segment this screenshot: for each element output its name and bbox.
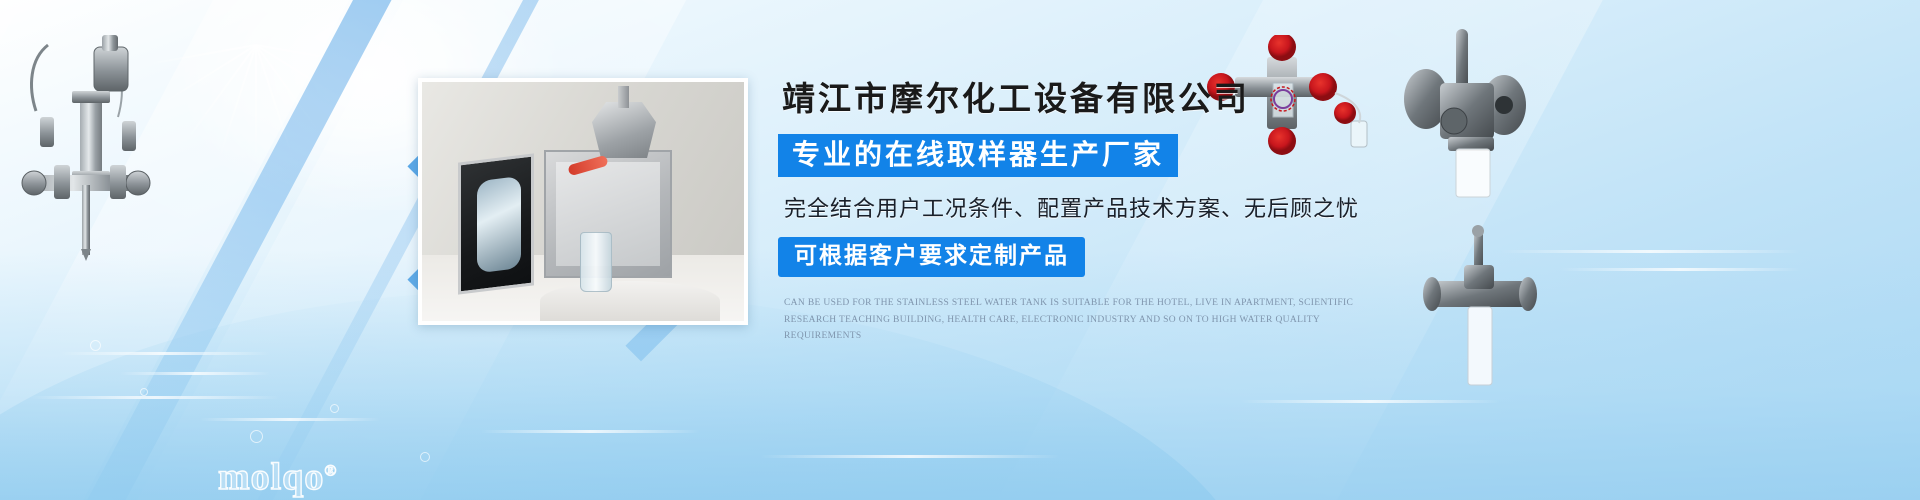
water-streak bbox=[1240, 400, 1500, 403]
sub-headline: 完全结合用户工况条件、配置产品技术方案、无后顾之忧 bbox=[784, 191, 1398, 223]
registered-mark-icon: ® bbox=[324, 462, 337, 479]
water-streak bbox=[760, 455, 1060, 458]
headline-badge: 专业的在线取样器生产厂家 bbox=[778, 134, 1178, 177]
bubble bbox=[330, 404, 339, 413]
bubble bbox=[420, 452, 430, 462]
water-streak bbox=[1500, 250, 1800, 253]
sun-ray-icon bbox=[185, 44, 257, 142]
sun-ray-icon bbox=[255, 45, 257, 165]
water-streak bbox=[480, 430, 700, 433]
headline-row: 专业的在线取样器生产厂家 bbox=[778, 134, 1398, 177]
sun-ray-icon bbox=[218, 45, 257, 160]
banner-text-column: 靖江市摩尔化工设备有限公司 专业的在线取样器生产厂家 完全结合用户工况条件、配置… bbox=[778, 72, 1398, 345]
sun-ray-icon bbox=[255, 44, 327, 142]
sun-ray-icon bbox=[255, 44, 358, 109]
promo-banner: 靖江市摩尔化工设备有限公司 专业的在线取样器生产厂家 完全结合用户工况条件、配置… bbox=[0, 0, 1920, 500]
water-streak bbox=[120, 372, 270, 375]
english-description: CAN BE USED FOR THE STAINLESS STEEL WATE… bbox=[784, 295, 1384, 345]
water-streak bbox=[60, 352, 270, 355]
center-product-photo bbox=[418, 78, 748, 325]
sun-ray-icon bbox=[256, 44, 375, 67]
right-product-image-inline-valve bbox=[1420, 225, 1540, 395]
right-product-image-flanged-valve bbox=[1400, 25, 1530, 200]
cta-badge[interactable]: 可根据客户要求定制产品 bbox=[778, 237, 1085, 277]
watermark-text: molqo bbox=[218, 456, 324, 498]
left-product-image bbox=[10, 25, 170, 265]
bubble bbox=[90, 340, 101, 351]
water-streak bbox=[200, 418, 380, 421]
watermark-logo: molqo® bbox=[218, 455, 337, 499]
water-streak bbox=[1560, 268, 1800, 271]
cta-row: 可根据客户要求定制产品 bbox=[778, 237, 1398, 277]
bubble bbox=[140, 388, 148, 396]
sun-ray-icon bbox=[255, 45, 294, 160]
bubble bbox=[250, 430, 263, 443]
water-streak bbox=[30, 396, 280, 399]
company-title: 靖江市摩尔化工设备有限公司 bbox=[782, 72, 1398, 120]
